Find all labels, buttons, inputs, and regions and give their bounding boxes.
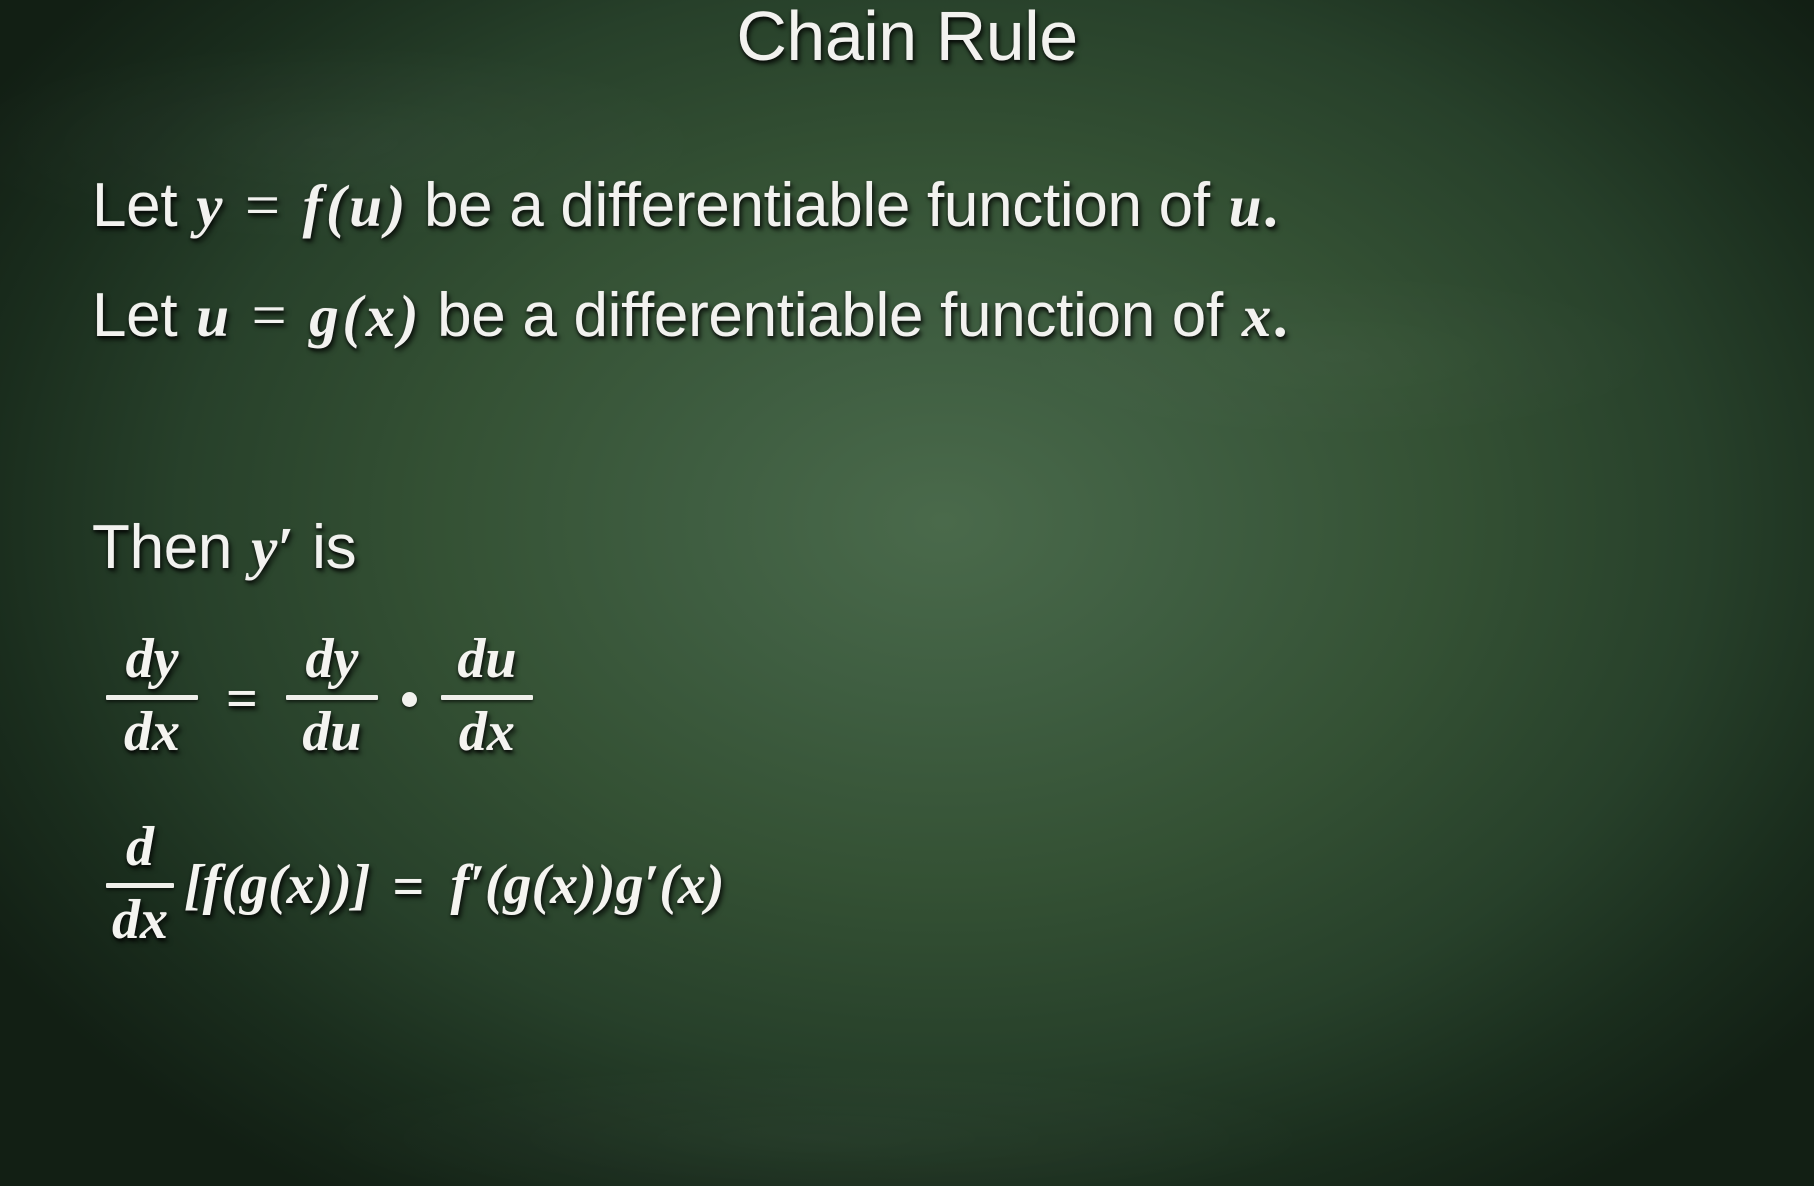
statement-1-function-f: f: [301, 174, 324, 239]
then-lead: Then: [92, 513, 232, 582]
statement-2-paren-close: ): [397, 284, 420, 349]
then-line: Then y′ is: [92, 512, 356, 583]
fraction-dy-du-numerator: dy: [299, 630, 364, 691]
statement-2-argument-x: x: [364, 284, 397, 349]
then-tail: is: [312, 513, 356, 582]
fraction-dy-dx-bar: [106, 695, 198, 700]
then-variable-y-prime: y′: [249, 516, 295, 581]
equation-1-equals: =: [204, 667, 280, 731]
statement-1-argument-u: u: [347, 174, 383, 239]
statement-1-variable-of: u: [1227, 174, 1263, 239]
equation-chain-rule-composite: d dx [f(g(x))] = f′(g(x))g′(x): [100, 818, 725, 953]
fraction-d-dx-numerator: d: [120, 818, 160, 879]
fraction-dy-du-denominator: du: [296, 703, 367, 764]
statement-1-lead: Let: [92, 171, 177, 240]
fraction-du-dx-numerator: du: [451, 630, 522, 691]
page-title: Chain Rule: [0, 0, 1814, 77]
statement-2-variable-of: x: [1240, 284, 1273, 349]
equation-2-equals: =: [371, 855, 447, 919]
statement-1-tail: be a differentiable function of: [424, 171, 1210, 240]
equation-2-left-expression: [f(g(x))]: [180, 853, 371, 917]
equation-2-right-expression: f′(g(x))g′(x): [446, 853, 724, 917]
statement-1-equals: =: [241, 172, 284, 240]
statement-1-paren-close: ): [384, 174, 407, 239]
fraction-dy-dx: dy dx: [100, 630, 204, 765]
fraction-dy-dx-denominator: dx: [118, 703, 186, 764]
statement-1-variable-y: y: [194, 174, 224, 239]
chalkboard-slide: Chain Rule Let y = f(u) be a differentia…: [0, 0, 1814, 1186]
fraction-dy-du-bar: [286, 695, 378, 700]
fraction-dy-dx-numerator: dy: [120, 630, 185, 691]
statement-line-1: Let y = f(u) be a differentiable functio…: [92, 170, 1282, 242]
statement-2-period: .: [1273, 284, 1291, 349]
fraction-du-dx: du dx: [435, 630, 539, 765]
fraction-du-dx-bar: [441, 695, 533, 700]
statement-2-variable-u: u: [194, 284, 230, 349]
equation-chain-rule-leibniz: dy dx = dy du du dx: [100, 630, 539, 765]
fraction-d-dx-bar: [106, 883, 174, 888]
statement-2-lead: Let: [92, 281, 177, 350]
statement-2-function-g: g: [307, 284, 340, 349]
statement-2-paren-open: (: [340, 284, 363, 349]
statement-line-2: Let u = g(x) be a differentiable functio…: [92, 280, 1291, 352]
statement-2-equals: =: [248, 282, 291, 350]
fraction-dy-du: dy du: [280, 630, 384, 765]
statement-1-period: .: [1263, 174, 1281, 239]
multiplication-dot-icon: [402, 692, 417, 707]
statement-2-tail: be a differentiable function of: [437, 281, 1223, 350]
fraction-du-dx-denominator: dx: [453, 703, 521, 764]
fraction-d-dx: d dx: [100, 818, 180, 953]
fraction-d-dx-denominator: dx: [106, 891, 174, 952]
statement-1-paren-open: (: [324, 174, 347, 239]
